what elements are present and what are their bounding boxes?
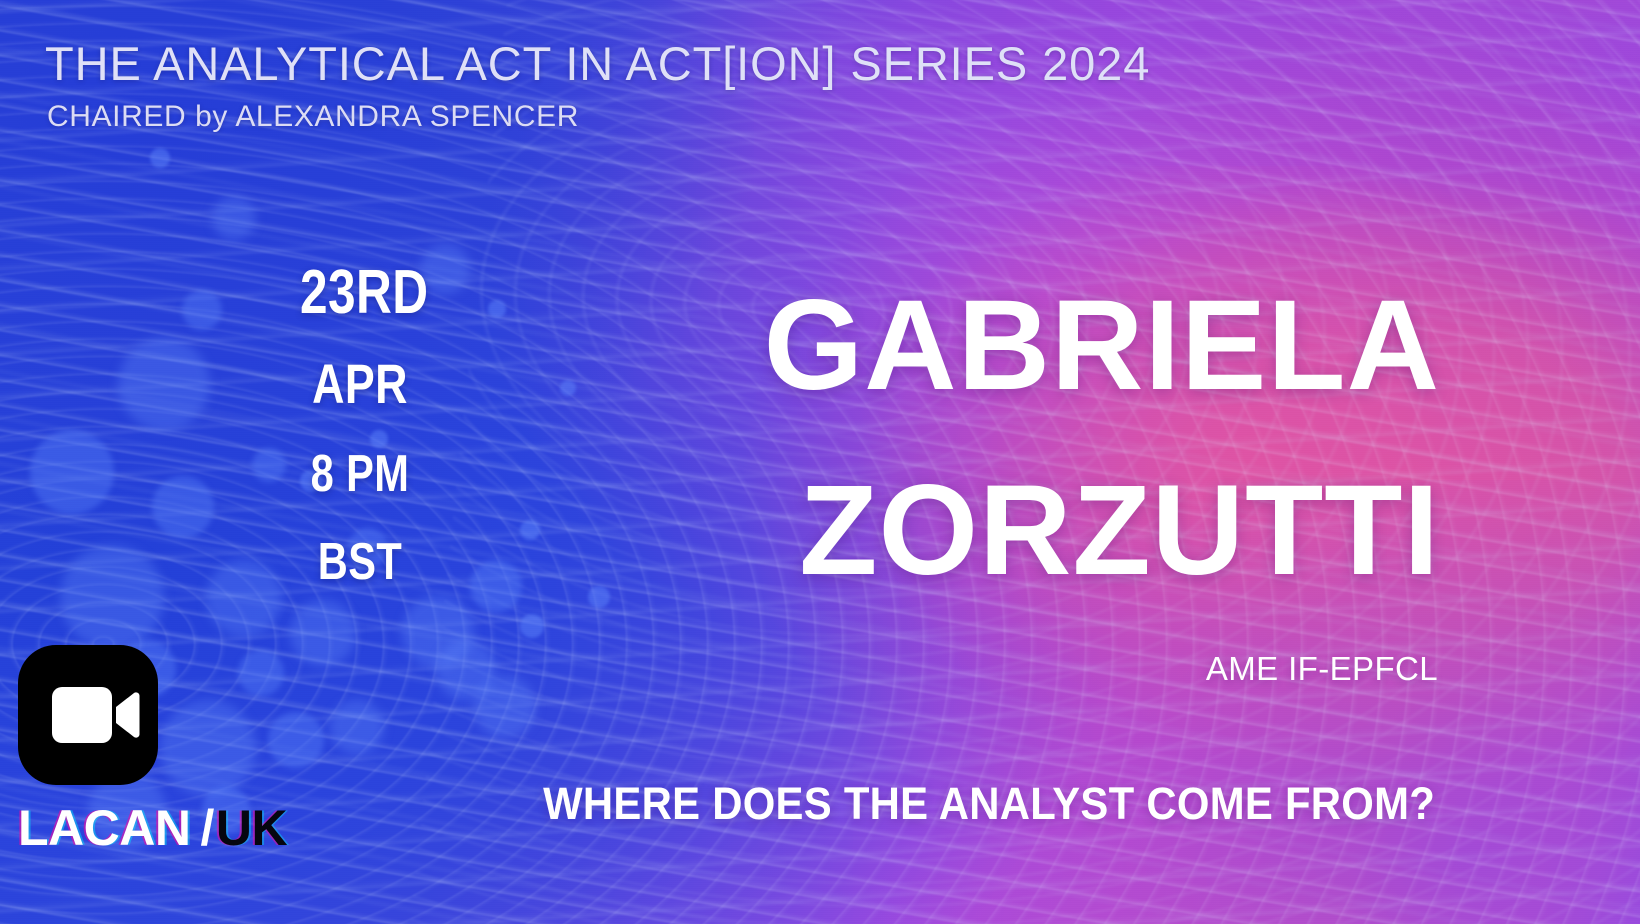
speaker-first-name: GABRIELA bbox=[764, 285, 1440, 407]
brand-name-secondary: UK bbox=[216, 803, 287, 853]
talk-tagline: WHERE DOES THE ANALYST COME FROM? bbox=[543, 778, 1435, 830]
lacan-uk-wordmark: LACAN / UK bbox=[18, 803, 288, 853]
brand-name-primary: LACAN bbox=[18, 803, 190, 853]
speaker-affiliation: AME IF-EPFCL bbox=[1206, 650, 1438, 688]
page-title: THE ANALYTICAL ACT IN ACT[ION] SERIES 20… bbox=[45, 36, 1150, 91]
event-day: 23RD bbox=[300, 262, 420, 324]
date-time-block: 23RD APR 8 PM BST bbox=[285, 262, 435, 588]
event-time: 8 PM bbox=[300, 448, 420, 500]
poster-content: THE ANALYTICAL ACT IN ACT[ION] SERIES 20… bbox=[0, 0, 1640, 924]
event-poster: THE ANALYTICAL ACT IN ACT[ION] SERIES 20… bbox=[0, 0, 1640, 924]
zoom-video-camera-icon bbox=[18, 645, 158, 785]
speaker-last-name: ZORZUTTI bbox=[799, 470, 1440, 592]
event-month: APR bbox=[300, 356, 420, 412]
event-timezone: BST bbox=[300, 536, 420, 588]
branding-block: LACAN / UK bbox=[18, 645, 288, 853]
brand-separator: / bbox=[200, 803, 213, 853]
chaired-by-label: CHAIRED by ALEXANDRA SPENCER bbox=[47, 100, 579, 134]
